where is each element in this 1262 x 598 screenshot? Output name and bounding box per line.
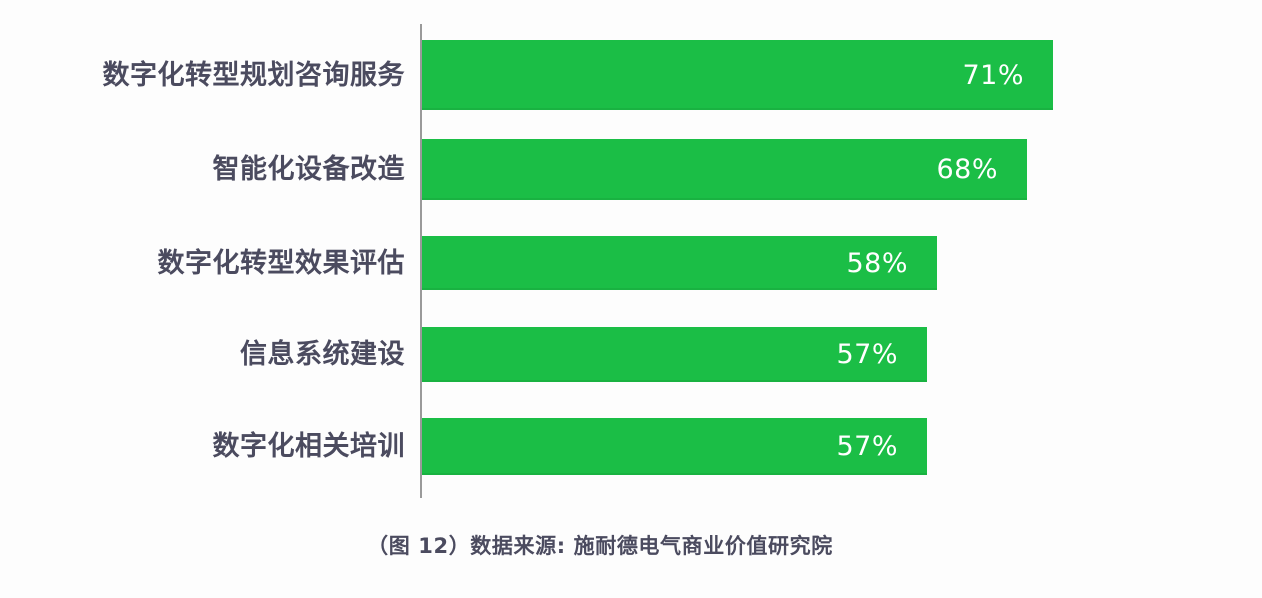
bar-category-label: 智能化设备改造: [213, 156, 406, 183]
bar-value-label: 57%: [836, 341, 898, 368]
bar-value-label: 58%: [846, 250, 908, 277]
bar-category-label: 信息系统建设: [240, 341, 405, 368]
bar-category-label: 数字化相关培训: [213, 433, 406, 460]
bar-track: 58%: [422, 236, 937, 290]
bar-value-label: 71%: [962, 62, 1024, 89]
bar-row: 信息系统建设 57%: [0, 327, 1262, 382]
bar-track: 57%: [422, 327, 927, 382]
chart-caption: （图 12）数据来源: 施耐德电气商业价值研究院: [0, 530, 1262, 560]
bar-row: 智能化设备改造 68%: [0, 139, 1262, 200]
bar-track: 71%: [422, 40, 1053, 110]
bar-category-label: 数字化转型效果评估: [158, 250, 406, 277]
bar-value-label: 57%: [836, 433, 898, 460]
bar-fill[interactable]: 68%: [422, 139, 1027, 200]
bar-track: 57%: [422, 418, 927, 475]
bar-fill[interactable]: 57%: [422, 418, 927, 475]
bar-track: 68%: [422, 139, 1027, 200]
bar-category-label: 数字化转型规划咨询服务: [103, 62, 406, 89]
bar-fill[interactable]: 58%: [422, 236, 937, 290]
bar-fill[interactable]: 57%: [422, 327, 927, 382]
plot-area: 数字化转型规划咨询服务 71% 智能化设备改造 68% 数字化转型效果评估 58…: [0, 0, 1262, 510]
bar-row: 数字化转型规划咨询服务 71%: [0, 40, 1262, 110]
bar-row: 数字化相关培训 57%: [0, 418, 1262, 475]
horizontal-bar-chart: 数字化转型规划咨询服务 71% 智能化设备改造 68% 数字化转型效果评估 58…: [0, 0, 1262, 598]
bar-value-label: 68%: [936, 156, 998, 183]
bar-fill[interactable]: 71%: [422, 40, 1053, 110]
bar-row: 数字化转型效果评估 58%: [0, 236, 1262, 290]
